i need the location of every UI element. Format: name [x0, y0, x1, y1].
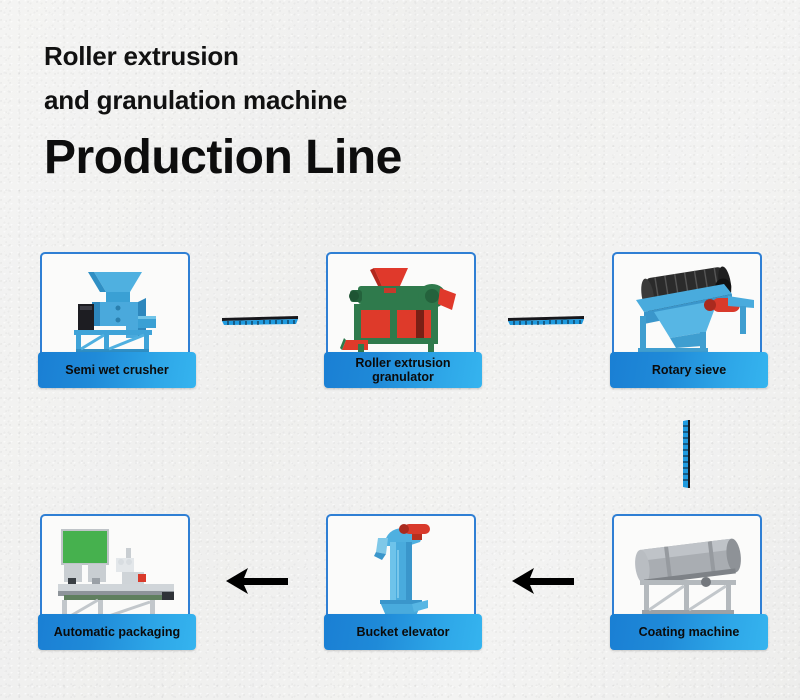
card-label-text: Bucket elevator — [352, 625, 453, 639]
process-card-rotary-sieve[interactable]: Rotary sieve — [612, 252, 762, 362]
automatic-packaging-icon — [42, 516, 188, 622]
conveyor-belt-connector-1 — [220, 313, 300, 325]
card-label-text: Roller extrusion granulator — [347, 356, 458, 384]
semi-wet-crusher-icon — [42, 254, 188, 360]
conveyor-belt-connector-3 — [680, 418, 692, 490]
process-card-bucket-elevator[interactable]: Bucket elevator — [326, 514, 476, 624]
process-card-automatic-packaging[interactable]: Automatic packaging — [40, 514, 190, 624]
card-label-text: Automatic packaging — [50, 625, 184, 639]
card-label-rotary-sieve: Rotary sieve — [610, 352, 768, 388]
card-label-bucket-elevator: Bucket elevator — [324, 614, 482, 650]
card-label-line-1: Roller extrusion — [351, 356, 454, 370]
process-card-roller-extrusion-granulator[interactable]: Roller extrusion granulator — [326, 252, 476, 362]
card-label-coating-machine: Coating machine — [610, 614, 768, 650]
coating-machine-icon — [614, 516, 760, 622]
roller-extrusion-granulator-icon — [328, 254, 474, 360]
card-label-roller-extrusion-granulator: Roller extrusion granulator — [324, 352, 482, 388]
card-label-semi-wet-crusher: Semi wet crusher — [38, 352, 196, 388]
card-label-text: Coating machine — [635, 625, 744, 639]
heading-line-2: and granulation machine — [44, 78, 604, 122]
bucket-elevator-icon — [328, 516, 474, 622]
page-title: Production Line — [44, 128, 604, 188]
arrow-left-icon-1 — [226, 566, 288, 596]
conveyor-belt-connector-2 — [506, 313, 586, 325]
card-label-automatic-packaging: Automatic packaging — [38, 614, 196, 650]
card-label-line-2: granulator — [368, 370, 438, 384]
heading-line-1: Roller extrusion — [44, 34, 604, 78]
card-label-text: Rotary sieve — [648, 363, 730, 377]
rotary-sieve-icon — [614, 254, 760, 360]
process-card-coating-machine[interactable]: Coating machine — [612, 514, 762, 624]
arrow-left-icon-2 — [512, 566, 574, 596]
card-label-text: Semi wet crusher — [61, 363, 173, 377]
page-heading: Roller extrusion and granulation machine… — [44, 34, 604, 188]
process-card-semi-wet-crusher[interactable]: Semi wet crusher — [40, 252, 190, 362]
